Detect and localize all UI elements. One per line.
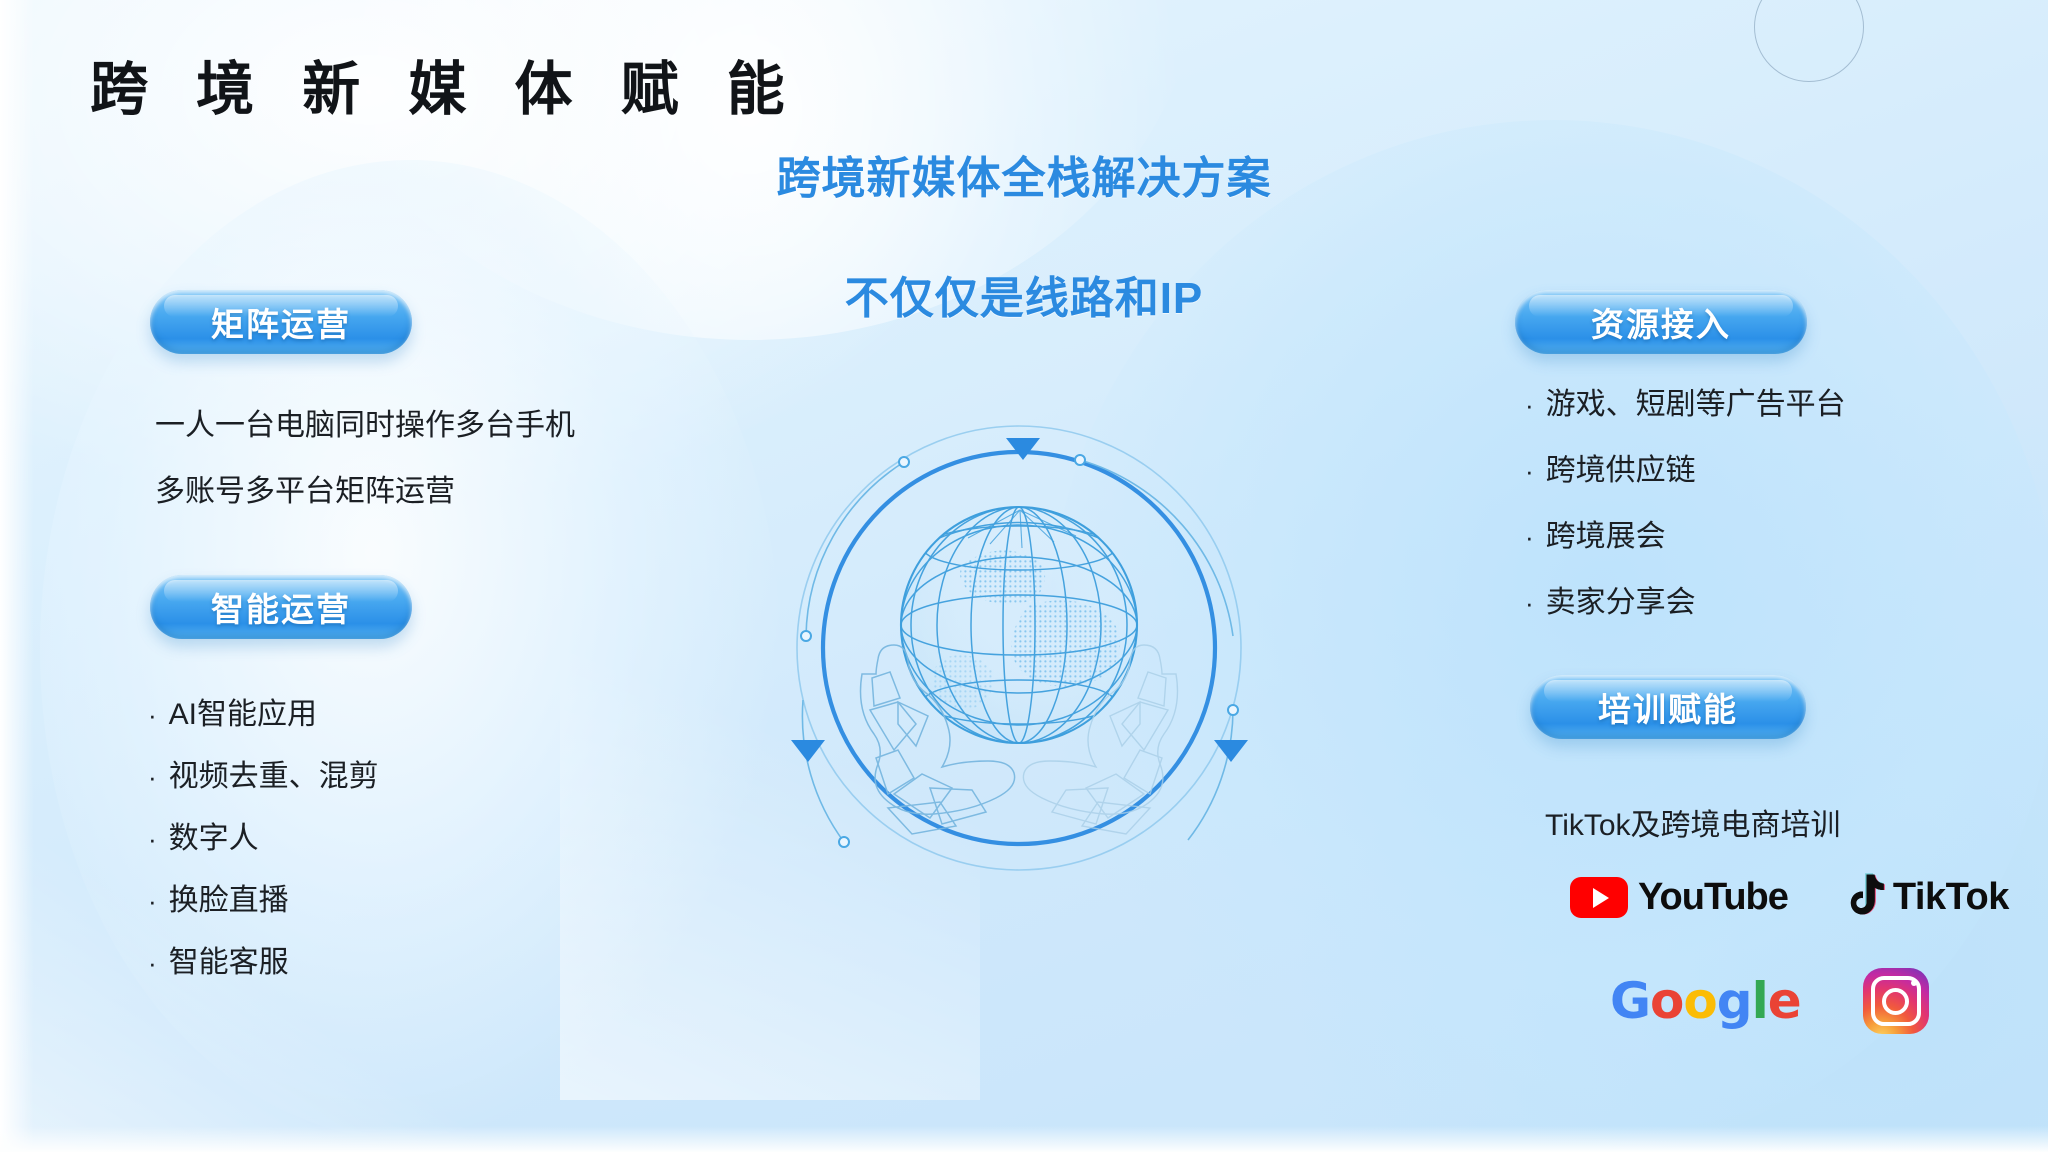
bullet-marker-icon: · <box>1525 522 1534 552</box>
tiktok-logo[interactable]: TikTok <box>1844 872 2009 923</box>
youtube-play-icon <box>1570 877 1628 918</box>
list-item-label: 卖家分享会 <box>1546 586 1696 619</box>
left-text-line-1: 一人一台电脑同时操作多台手机 <box>155 400 575 444</box>
page-title: 跨 境 新 媒 体 赋 能 <box>90 42 801 126</box>
google-letter: o <box>1683 972 1716 1030</box>
bullet-marker-icon: · <box>148 948 157 978</box>
list-item: ·视频去重、混剪 <box>148 762 379 792</box>
tiktok-note-icon <box>1844 872 1886 923</box>
list-item: ·换脸直播 <box>148 886 379 916</box>
left-text-line-2: 多账号多平台矩阵运营 <box>155 466 455 510</box>
list-item: ·卖家分享会 <box>1525 588 1846 618</box>
list-item: ·跨境供应链 <box>1525 456 1846 486</box>
bullet-marker-icon: · <box>1525 588 1534 618</box>
google-letter: l <box>1752 972 1768 1030</box>
left-bullet-list: ·AI智能应用 ·视频去重、混剪 ·数字人 ·换脸直播 ·智能客服 <box>148 700 379 1010</box>
list-item-label: 智能客服 <box>169 946 289 979</box>
pill-resource-access[interactable]: 资源接入 <box>1515 290 1807 354</box>
headline-primary: 跨境新媒体全栈解决方案 <box>0 142 2048 206</box>
instagram-logo[interactable] <box>1863 968 1929 1034</box>
edge-fade-left <box>0 0 34 1152</box>
list-item: ·AI智能应用 <box>148 700 379 730</box>
google-letter: g <box>1717 972 1752 1030</box>
tiktok-logo-label: TikTok <box>1893 876 2009 919</box>
list-item-label: 视频去重、混剪 <box>169 760 379 793</box>
bullet-marker-icon: · <box>148 886 157 916</box>
list-item-label: 跨境展会 <box>1546 520 1666 553</box>
pill-label: 矩阵运营 <box>211 298 351 346</box>
pill-training-empowerment[interactable]: 培训赋能 <box>1530 675 1806 739</box>
youtube-logo[interactable]: YouTube <box>1570 876 1788 919</box>
training-description: TikTok及跨境电商培训 <box>1545 800 1841 844</box>
google-logo[interactable]: Google <box>1610 972 1801 1030</box>
list-item: ·数字人 <box>148 824 379 854</box>
pill-smart-operations[interactable]: 智能运营 <box>150 575 412 639</box>
pill-matrix-operations[interactable]: 矩阵运营 <box>150 290 412 354</box>
edge-fade-bottom <box>0 1126 2048 1152</box>
bullet-marker-icon: · <box>1525 390 1534 420</box>
google-letter: o <box>1650 972 1683 1030</box>
list-item-label: 换脸直播 <box>169 884 289 917</box>
list-item: ·智能客服 <box>148 948 379 978</box>
list-item-label: 跨境供应链 <box>1546 454 1696 487</box>
youtube-logo-label: YouTube <box>1638 876 1788 919</box>
instagram-flash-dot-icon <box>1911 980 1917 986</box>
globe-in-hands-illustration <box>784 410 1254 880</box>
bullet-marker-icon: · <box>148 762 157 792</box>
google-letter: e <box>1768 972 1801 1030</box>
logo-row-bottom: Google <box>1610 968 1929 1034</box>
list-item: ·游戏、短剧等广告平台 <box>1525 390 1846 420</box>
google-letter: G <box>1610 972 1650 1030</box>
pill-label: 资源接入 <box>1591 298 1731 346</box>
bullet-marker-icon: · <box>1525 456 1534 486</box>
list-item-label: AI智能应用 <box>169 698 317 731</box>
pill-label: 智能运营 <box>211 583 351 631</box>
decorative-circle-icon <box>1754 0 1864 82</box>
right-bullet-list: ·游戏、短剧等广告平台 ·跨境供应链 ·跨境展会 ·卖家分享会 <box>1525 390 1846 654</box>
bullet-marker-icon: · <box>148 700 157 730</box>
slide-canvas: 跨 境 新 媒 体 赋 能 跨境新媒体全栈解决方案 不仅仅是线路和IP 矩阵运营… <box>0 0 2048 1152</box>
bullet-marker-icon: · <box>148 824 157 854</box>
list-item: ·跨境展会 <box>1525 522 1846 552</box>
logo-row-top: YouTube TikTok <box>1570 872 2009 923</box>
list-item-label: 数字人 <box>169 822 259 855</box>
list-item-label: 游戏、短剧等广告平台 <box>1546 388 1846 421</box>
pill-label: 培训赋能 <box>1598 683 1738 731</box>
